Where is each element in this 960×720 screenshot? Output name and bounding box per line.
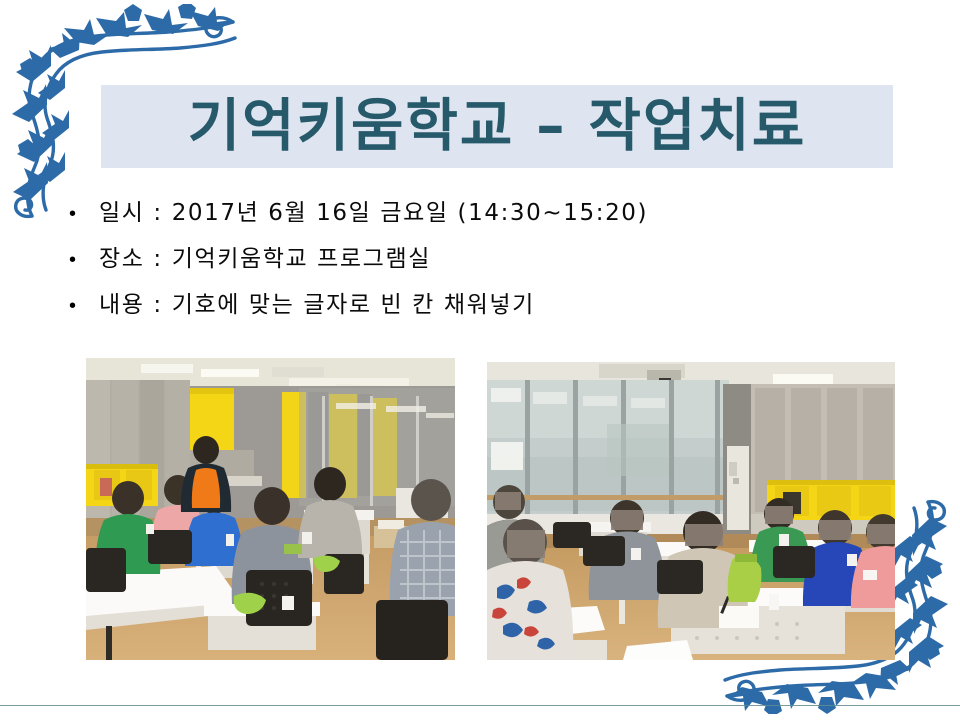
bullet-item-location: • 장소 : 기억키움학교 프로그램실 <box>64 242 924 276</box>
bullet-marker-icon: • <box>64 289 99 323</box>
bullet-text-content: 내용 : 기호에 맞는 글자로 빈 칸 채워넣기 <box>99 288 535 322</box>
bottom-divider-line <box>0 705 960 706</box>
bullet-text-location: 장소 : 기억키움학교 프로그램실 <box>99 242 431 276</box>
bullet-list: • 일시 : 2017년 6월 16일 금요일 (14:30~15:20) • … <box>64 196 924 334</box>
slide-canvas: 기억키움학교 – 작업치료 • 일시 : 2017년 6월 16일 금요일 (1… <box>0 0 960 720</box>
slide-title-band: 기억키움학교 – 작업치료 <box>101 85 893 168</box>
bullet-item-content: • 내용 : 기호에 맞는 글자로 빈 칸 채워넣기 <box>64 288 924 322</box>
bullet-marker-icon: • <box>64 197 99 231</box>
slide-title: 기억키움학교 – 작업치료 <box>188 98 807 155</box>
bullet-marker-icon: • <box>64 243 99 277</box>
bullet-text-date: 일시 : 2017년 6월 16일 금요일 (14:30~15:20) <box>99 196 648 230</box>
bullet-item-date: • 일시 : 2017년 6월 16일 금요일 (14:30~15:20) <box>64 196 924 230</box>
classroom-photo-left <box>86 358 455 660</box>
classroom-photo-right <box>487 362 895 660</box>
